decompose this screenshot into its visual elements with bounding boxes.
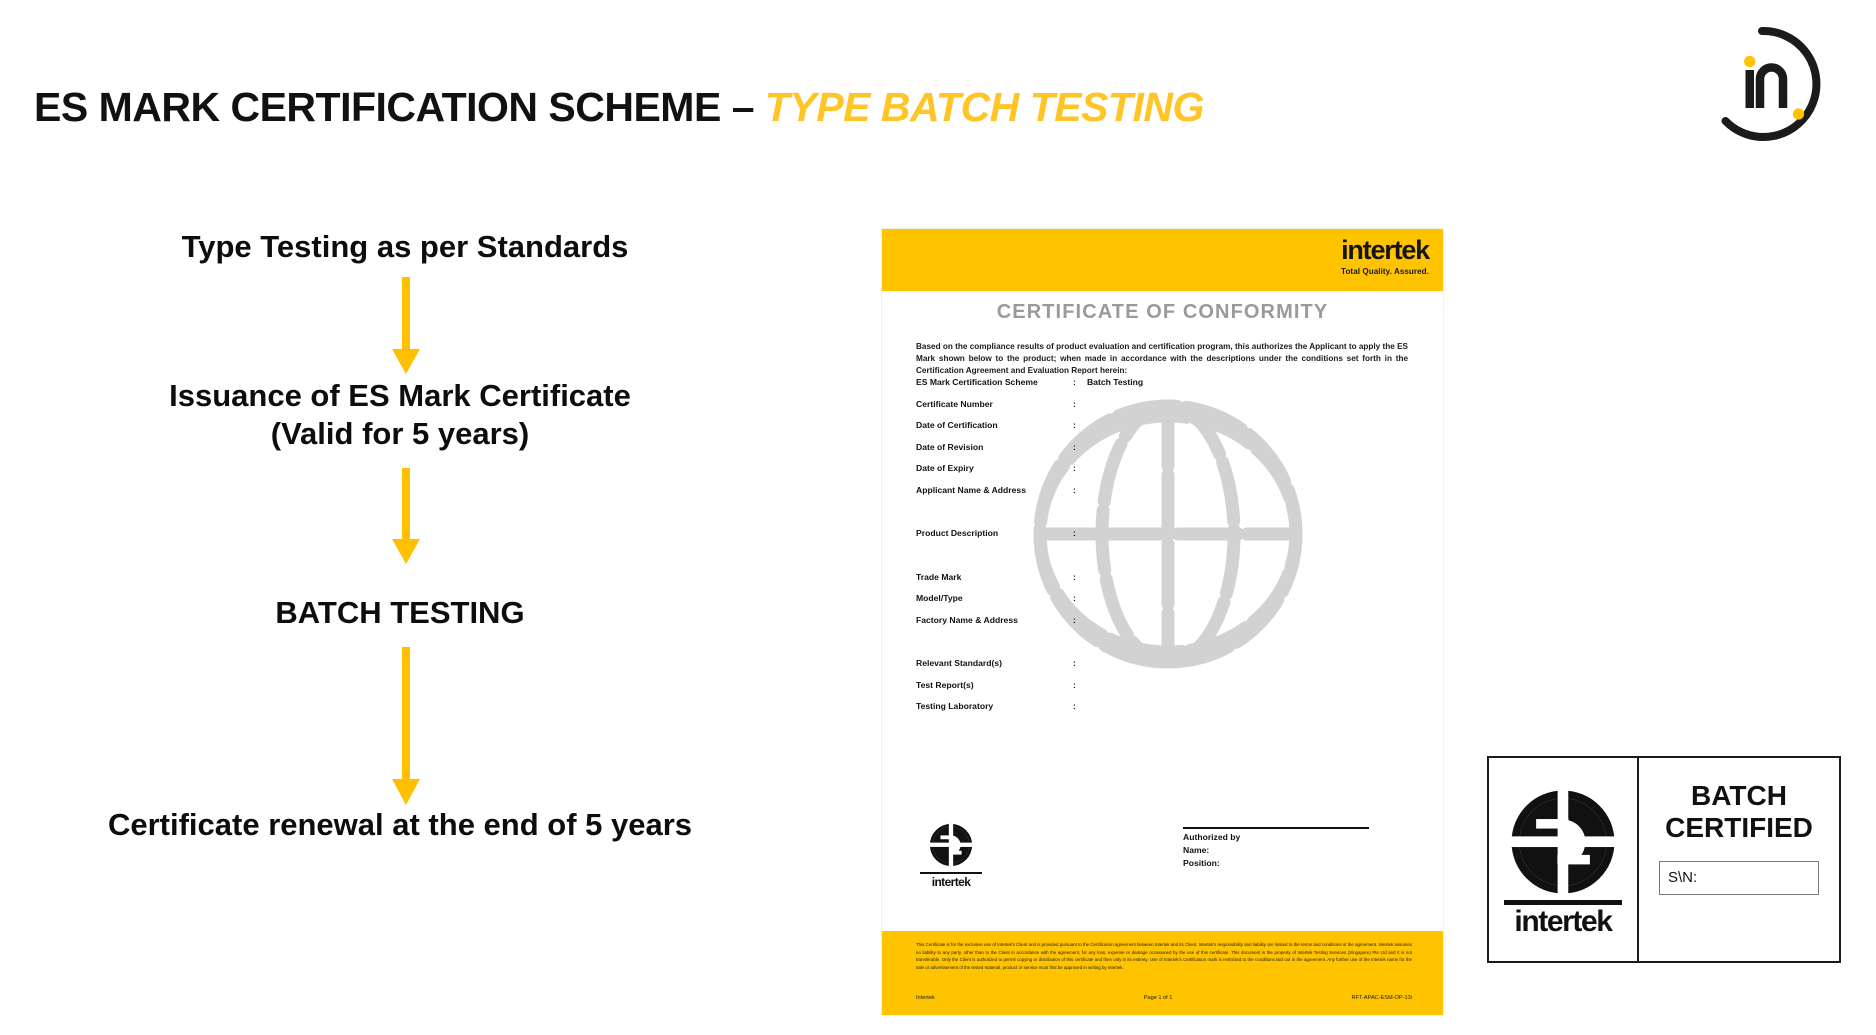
certificate-field-label: Trade Mark: [916, 572, 1073, 582]
certificate-disclaimer-text: This Certificate is for the exclusive us…: [916, 941, 1412, 972]
certificate-field-label: Date of Certification: [916, 420, 1073, 430]
certificate-field-row: Model/Type :: [916, 593, 1416, 615]
certificate-field-row: Date of Expiry :: [916, 463, 1416, 485]
certificate-field-label: Model/Type: [916, 593, 1073, 603]
certificate-field-row: Date of Revision :: [916, 442, 1416, 464]
certificate-field-row: Applicant Name & Address :: [916, 485, 1416, 507]
certificate-field-row: ES Mark Certification Scheme : Batch Tes…: [916, 377, 1416, 399]
batch-label-wordmark: intertek: [1514, 907, 1611, 937]
certificate-field-row: Certificate Number :: [916, 399, 1416, 421]
certificate-field-label: Factory Name & Address: [916, 615, 1073, 625]
certificate-field-label: Test Report(s): [916, 680, 1073, 690]
certificate-field-colon: :: [1073, 442, 1087, 452]
certificate-field-row: Product Description :: [916, 528, 1416, 550]
certificate-es-mark-logo: intertek: [918, 821, 984, 889]
certificate-field-label: ES Mark Certification Scheme: [916, 377, 1073, 387]
certificate-field-colon: :: [1073, 593, 1087, 603]
batch-certified-label: intertek BATCH CERTIFIED S\N:: [1487, 756, 1841, 963]
certificate-field-colon: :: [1073, 420, 1087, 430]
page-title-accent: TYPE BATCH TESTING: [765, 84, 1204, 130]
certificate-footer-row: Intertek Page 1 of 1 RFT-APAC-ESM-OP-13i: [916, 995, 1412, 1001]
certificate-brand-tagline: Total Quality. Assured.: [1341, 267, 1429, 276]
slide-canvas: ES MARK CERTIFICATION SCHEME – TYPE BATC…: [0, 0, 1876, 1035]
certificate-title: CERTIFICATE OF CONFORMITY: [882, 301, 1443, 324]
certificate-field-label: Product Description: [916, 528, 1073, 538]
certificate-field-row: Factory Name & Address :: [916, 615, 1416, 637]
flow-arrow-1-icon: [389, 277, 423, 374]
signature-position-label: Position:: [1183, 858, 1369, 868]
certificate-field-colon: :: [1073, 680, 1087, 690]
certificate-field-label: Date of Revision: [916, 442, 1073, 452]
signature-name-label: Name:: [1183, 845, 1369, 855]
certificate-brand: intertek Total Quality. Assured.: [1341, 237, 1429, 276]
es-mark-icon: [927, 821, 975, 869]
certificate-field-label: Certificate Number: [916, 399, 1073, 409]
es-mark-icon: [1507, 786, 1619, 898]
certificate-footer-company: Intertek: [916, 995, 935, 1001]
certificate-field-colon: :: [1073, 701, 1087, 711]
serial-number-label: S\N:: [1668, 869, 1697, 886]
certificate-field-value: Batch Testing: [1087, 377, 1416, 387]
certificate-footer-reference: RFT-APAC-ESM-OP-13i: [1351, 995, 1412, 1001]
certificate-intro-paragraph: Based on the compliance results of produ…: [916, 341, 1408, 377]
flow-arrow-2-icon: [389, 468, 423, 564]
certificate-field-colon: :: [1073, 377, 1087, 387]
certificate-field-list: ES Mark Certification Scheme : Batch Tes…: [916, 377, 1416, 723]
es-mark-wordmark: intertek: [918, 875, 984, 889]
flow-step-batch-testing: BATCH TESTING: [55, 594, 745, 632]
flow-step-type-testing: Type Testing as per Standards: [60, 228, 750, 266]
es-mark-rule: [920, 872, 982, 874]
page-title: ES MARK CERTIFICATION SCHEME – TYPE BATC…: [34, 84, 1204, 131]
certificate-brand-wordmark: intertek: [1341, 237, 1429, 264]
certificate-field-row: Date of Certification :: [916, 420, 1416, 442]
certificate-field-colon: :: [1073, 463, 1087, 473]
batch-label-logo-cell: intertek: [1489, 758, 1639, 961]
certificate-field-label: Testing Laboratory: [916, 701, 1073, 711]
serial-number-field[interactable]: S\N:: [1659, 861, 1819, 895]
certificate-of-conformity-preview: intertek Total Quality. Assured. CERTIFI…: [882, 229, 1443, 1015]
authorized-by-label: Authorized by: [1183, 832, 1369, 842]
certificate-field-label: Relevant Standard(s): [916, 658, 1073, 668]
certificate-field-row: Testing Laboratory :: [916, 701, 1416, 723]
certificate-field-colon: :: [1073, 485, 1087, 495]
certificate-field-colon: :: [1073, 658, 1087, 668]
batch-certified-title: BATCH CERTIFIED: [1665, 780, 1813, 845]
certificate-field-colon: :: [1073, 572, 1087, 582]
certificate-footer-page: Page 1 of 1: [1144, 995, 1173, 1001]
certificate-field-row: Relevant Standard(s) :: [916, 658, 1416, 680]
certificate-signature-block: Authorized by Name: Position:: [1183, 827, 1369, 868]
page-title-primary: ES MARK CERTIFICATION SCHEME –: [34, 84, 765, 130]
certificate-field-label: Date of Expiry: [916, 463, 1073, 473]
certificate-field-row: Trade Mark :: [916, 572, 1416, 594]
certificate-field-colon: :: [1073, 615, 1087, 625]
flow-step-renewal: Certificate renewal at the end of 5 year…: [20, 806, 780, 844]
certificate-field-colon: :: [1073, 399, 1087, 409]
flow-arrow-3-icon: [389, 647, 423, 805]
intertek-in-circle-logo-icon: [1700, 22, 1824, 146]
signature-rule: [1183, 827, 1369, 829]
certificate-field-row: Test Report(s) :: [916, 680, 1416, 702]
certificate-field-label: Applicant Name & Address: [916, 485, 1073, 495]
flow-step-issuance: Issuance of ES Mark Certificate (Valid f…: [55, 377, 745, 453]
certificate-field-colon: :: [1073, 528, 1087, 538]
certificate-footer-band: This Certificate is for the exclusive us…: [882, 931, 1443, 1015]
batch-label-info-cell: BATCH CERTIFIED S\N:: [1639, 758, 1839, 961]
